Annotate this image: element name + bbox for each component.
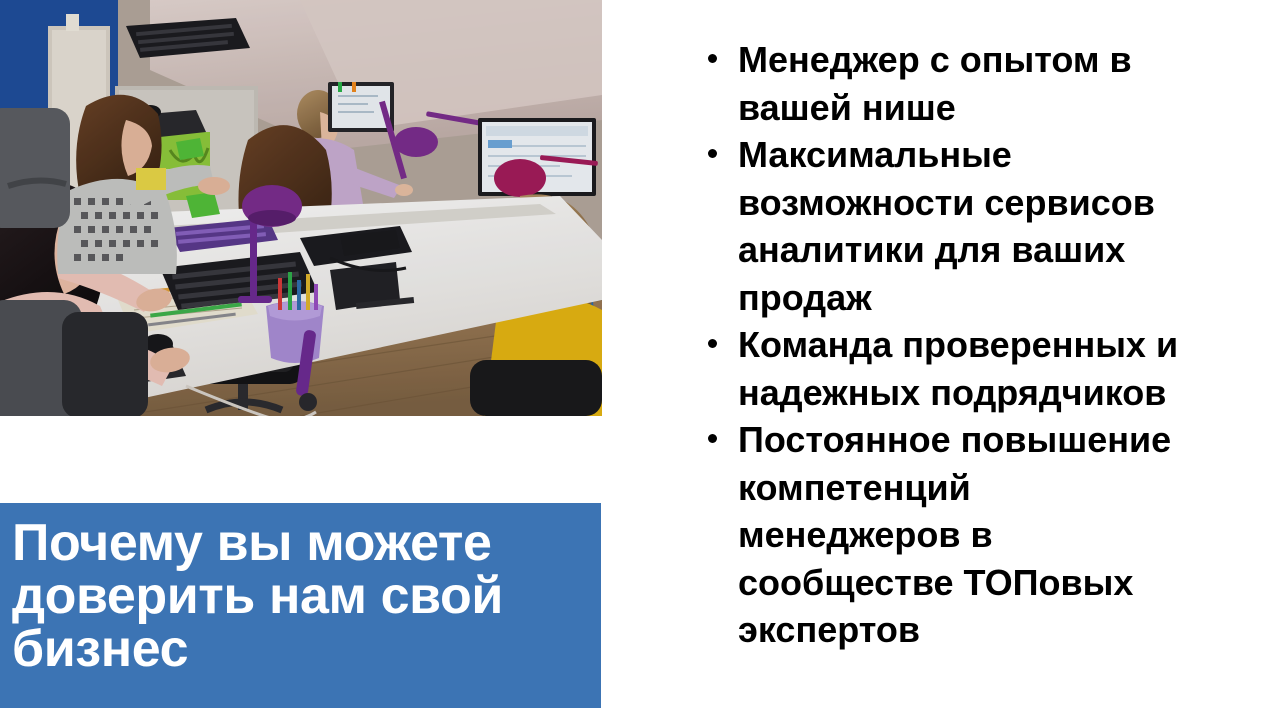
slide-canvas: Почему вы можете доверить нам свой бизне… bbox=[0, 0, 1281, 720]
bullet-list: Менеджер с опытом в вашей нише Максималь… bbox=[694, 36, 1199, 654]
list-item-label: Постоянное повышение компетенций менедже… bbox=[738, 419, 1171, 650]
list-item-label: Максимальные возможности сервисов аналит… bbox=[738, 134, 1155, 318]
office-photo bbox=[0, 0, 602, 416]
office-photo-illustration bbox=[0, 0, 602, 416]
bullet-point-icon bbox=[708, 339, 717, 348]
list-item-label: Команда проверенных и надежных подрядчик… bbox=[738, 324, 1178, 413]
photo-vignette bbox=[0, 0, 602, 416]
list-item-label: Менеджер с опытом в вашей нише bbox=[738, 39, 1132, 128]
slide-title: Почему вы можете доверить нам свой бизне… bbox=[12, 517, 591, 676]
bullet-list-container: Менеджер с опытом в вашей нише Максималь… bbox=[694, 36, 1199, 654]
bullet-point-icon bbox=[708, 149, 717, 158]
bullet-point-icon bbox=[708, 54, 717, 63]
list-item: Постоянное повышение компетенций менедже… bbox=[738, 416, 1199, 654]
list-item: Максимальные возможности сервисов аналит… bbox=[738, 131, 1199, 321]
list-item: Менеджер с опытом в вашей нише bbox=[738, 36, 1199, 131]
list-item: Команда проверенных и надежных подрядчик… bbox=[738, 321, 1199, 416]
bullet-point-icon bbox=[708, 434, 717, 443]
title-banner: Почему вы можете доверить нам свой бизне… bbox=[0, 503, 601, 708]
